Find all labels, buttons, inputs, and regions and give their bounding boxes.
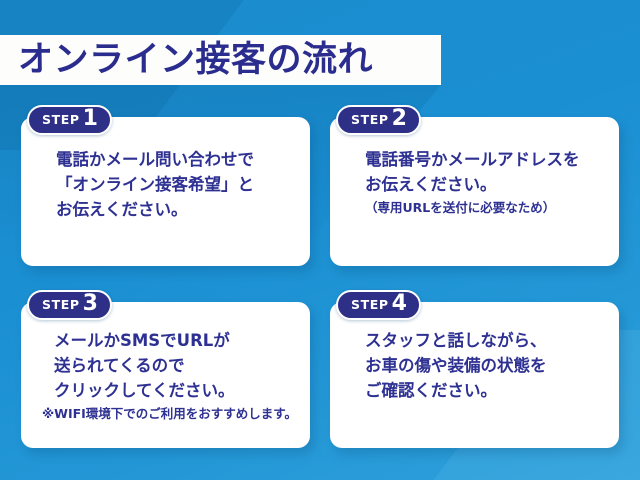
step-badge-1: STEP 1 <box>27 105 112 135</box>
step-text-line: 送られてくるので <box>54 353 298 378</box>
step-note: ※WIFI環境下でのご利用をおすすめします。 <box>42 405 298 424</box>
step-badge-3: STEP 3 <box>27 290 112 320</box>
step-text-line: クリックしてください。 <box>54 378 298 403</box>
step-text-line: 「オンライン接客希望」と <box>56 172 298 197</box>
step-badge-2: STEP 2 <box>336 105 421 135</box>
step-badge-label: STEP <box>42 299 80 312</box>
step-card-4: STEP 4 スタッフと話しながら、 お車の傷や装備の状態を ご確認ください。 <box>330 302 619 448</box>
step-card-4-body: スタッフと話しながら、 お車の傷や装備の状態を ご確認ください。 <box>365 328 607 403</box>
step-text-line: 電話かメール問い合わせで <box>56 147 298 172</box>
step-badge-4: STEP 4 <box>336 290 421 320</box>
step-text-line: メールかSMSでURLが <box>54 328 298 353</box>
step-text-line: お車の傷や装備の状態を <box>365 353 607 378</box>
step-card-1-body: 電話かメール問い合わせで 「オンライン接客希望」と お伝えください。 <box>56 147 298 222</box>
step-card-2: STEP 2 電話番号かメールアドレスを お伝えください。 （専用URLを送付に… <box>330 117 619 266</box>
step-badge-label: STEP <box>351 299 389 312</box>
poster-canvas: オンライン接客の流れ STEP 1 電話かメール問い合わせで 「オンライン接客希… <box>0 0 640 480</box>
step-card-3: STEP 3 メールかSMSでURLが 送られてくるので クリックしてください。… <box>21 302 310 448</box>
steps-grid: STEP 1 電話かメール問い合わせで 「オンライン接客希望」と お伝えください… <box>21 117 619 448</box>
step-badge-label: STEP <box>351 114 389 127</box>
step-text-line: 電話番号かメールアドレスを <box>365 147 607 172</box>
step-badge-number: 1 <box>83 108 98 130</box>
step-note: （専用URLを送付に必要なため） <box>365 199 607 218</box>
step-badge-number: 4 <box>392 293 407 315</box>
step-badge-label: STEP <box>42 114 80 127</box>
step-badge-number: 2 <box>392 108 407 130</box>
step-text-line: お伝えください。 <box>56 197 298 222</box>
step-card-3-body: メールかSMSでURLが 送られてくるので クリックしてください。 ※WIFI環… <box>54 328 298 424</box>
step-badge-number: 3 <box>83 293 98 315</box>
step-card-2-body: 電話番号かメールアドレスを お伝えください。 （専用URLを送付に必要なため） <box>365 147 607 218</box>
step-card-1: STEP 1 電話かメール問い合わせで 「オンライン接客希望」と お伝えください… <box>21 117 310 266</box>
step-text-line: ご確認ください。 <box>365 378 607 403</box>
step-text-line: お伝えください。 <box>365 172 607 197</box>
page-title: オンライン接客の流れ <box>0 43 373 78</box>
title-band: オンライン接客の流れ <box>0 35 441 85</box>
step-text-line: スタッフと話しながら、 <box>365 328 607 353</box>
